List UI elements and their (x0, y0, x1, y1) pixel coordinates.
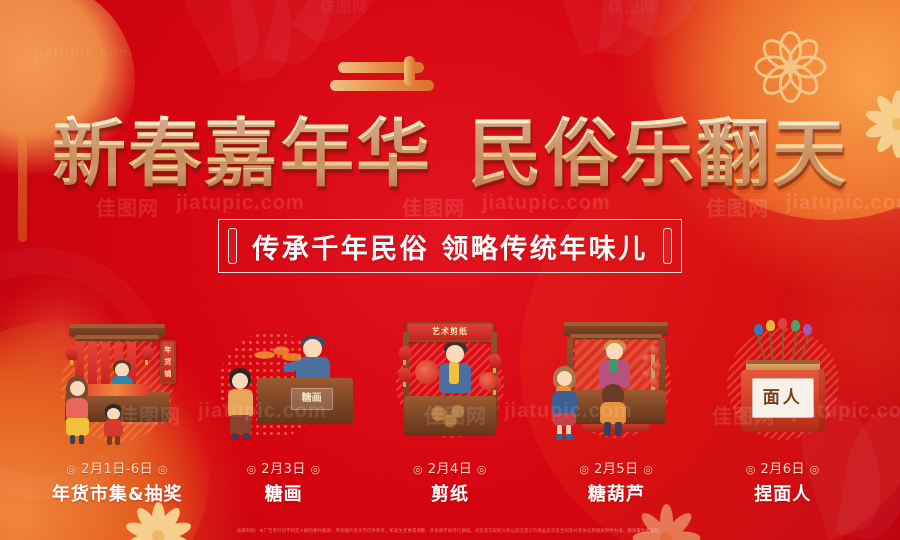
skirt (553, 413, 576, 426)
child-figure (102, 404, 126, 446)
shoes (556, 434, 563, 440)
date-marker-icon: ◎ (66, 463, 76, 476)
activity-item-market[interactable]: 年货铺 (42, 320, 192, 506)
booth-label: 糖画 (291, 388, 333, 410)
scene-paper-cutting-booth: 艺术剪纸 (375, 320, 525, 448)
shopper-woman-figure (64, 376, 94, 442)
torso (66, 398, 88, 420)
sugar-art-drawing (249, 342, 301, 368)
gold-cloud-motif-icon (330, 56, 450, 104)
figurine-stick (782, 324, 784, 362)
shoes (566, 434, 573, 440)
date-marker-icon: ◎ (247, 463, 257, 476)
activity-date-text: 2月4日 (428, 462, 473, 477)
torso (600, 402, 626, 424)
activity-date: ◎ 2月6日 ◎ (708, 458, 858, 477)
activity-date: ◎ 2月3日 ◎ (209, 458, 359, 477)
activity-name: 年货市集&抽奖 (42, 480, 192, 506)
page-title-line1: 新春嘉年华 (52, 112, 432, 196)
legs (79, 435, 84, 444)
dough-figurine-icon (766, 320, 775, 331)
kiosk-roof-eave (570, 334, 662, 339)
date-marker-icon: ◎ (477, 463, 487, 476)
torso (104, 419, 123, 437)
activity-item-paper-cutting[interactable]: 艺术剪纸 (375, 320, 525, 506)
head (446, 345, 464, 363)
legs (115, 436, 120, 445)
torso (228, 389, 253, 417)
date-marker-icon: ◎ (643, 463, 653, 476)
dough-figurine-icon (803, 324, 812, 335)
artisan-figure (437, 342, 475, 400)
skirt (66, 418, 89, 436)
date-marker-icon: ◎ (810, 463, 820, 476)
activity-date-text: 2月1日-6日 (81, 462, 153, 477)
torso (552, 391, 577, 415)
activity-name: 糖画 (209, 480, 359, 506)
subtitle-banner: 传承千年民俗 领略传统年味儿 (218, 219, 682, 273)
activity-item-dough-figurine[interactable]: 面人 ◎ 2月6日 ◎ 捏面人 (708, 320, 858, 506)
activity-date-text: 2月3日 (261, 462, 306, 477)
legs (232, 433, 238, 440)
papercut-piece (415, 360, 439, 384)
mini-lantern-icon (141, 346, 153, 361)
legs (243, 433, 249, 440)
mini-lantern-icon (399, 346, 411, 361)
activity-item-sugar-painting[interactable]: 糖画 ◎ 2月3日 ◎ 糖画 (209, 320, 359, 506)
date-marker-icon: ◎ (579, 463, 589, 476)
head (232, 373, 248, 389)
activity-date-text: 2月6日 (760, 462, 805, 477)
legs (70, 435, 75, 444)
date-marker-icon: ◎ (158, 463, 168, 476)
legs (107, 436, 112, 445)
date-marker-icon: ◎ (746, 463, 756, 476)
activity-name: 剪纸 (375, 480, 525, 506)
child-figure (227, 368, 257, 440)
activity-item-tanghulu[interactable]: ◎ 2月5日 ◎ 糖葫芦 (541, 320, 691, 506)
activity-name: 捏面人 (708, 480, 858, 506)
collar (609, 359, 618, 373)
head (606, 343, 623, 360)
scene-sugar-painting-booth: 糖画 (209, 320, 359, 448)
mini-lantern-icon (66, 346, 78, 361)
trousers (230, 415, 251, 435)
flower-decor (742, 16, 832, 106)
legs (604, 422, 611, 436)
legal-disclaimer: 法律声明：本广告系针对不特定人群的要约邀请，所有图片及文字仅供参考，如发生变更或… (0, 528, 900, 534)
activity-date: ◎ 2月1日-6日 ◎ (42, 458, 192, 477)
head (115, 363, 129, 377)
scene-dough-figurine-cart: 面人 (708, 320, 858, 448)
stall-roof-eave (75, 335, 159, 341)
cart-label: 面人 (752, 378, 814, 418)
mini-lantern-icon (399, 368, 411, 383)
child-girl-figure (551, 366, 581, 440)
hair (602, 384, 624, 404)
page-title-line2: 民俗乐翻天 (468, 112, 848, 196)
stall-sign: 年货铺 (160, 340, 176, 384)
activity-date: ◎ 2月5日 ◎ (541, 458, 691, 477)
booth-sign: 艺术剪纸 (406, 322, 494, 342)
mini-lantern-icon (489, 354, 501, 369)
dough-figurine-icon (778, 318, 787, 329)
scarf (449, 362, 459, 384)
activity-name: 糖葫芦 (541, 480, 691, 506)
papercut-piece (479, 372, 497, 390)
counter-pattern (422, 404, 478, 428)
activity-date-text: 2月5日 (594, 462, 639, 477)
dough-figurine-icon (754, 324, 763, 335)
child-boy-figure (599, 384, 629, 440)
scene-tanghulu-kiosk (541, 320, 691, 448)
subtitle-text: 传承千年民俗 领略传统年味儿 (252, 227, 647, 266)
title-block: 新春嘉年华民俗乐翻天 (0, 112, 900, 196)
date-marker-icon: ◎ (310, 463, 320, 476)
activity-date: ◎ 2月4日 ◎ (375, 458, 525, 477)
poster-canvas: 新春嘉年华民俗乐翻天 传承千年民俗 领略传统年味儿 年货铺 (0, 0, 900, 540)
dough-figurine-icon (791, 320, 800, 331)
legs (615, 422, 622, 436)
head (303, 339, 322, 358)
scene-new-year-market-stall: 年货铺 (42, 320, 192, 448)
flower-decor (628, 500, 704, 540)
activity-list: 年货铺 (0, 306, 900, 506)
date-marker-icon: ◎ (413, 463, 423, 476)
